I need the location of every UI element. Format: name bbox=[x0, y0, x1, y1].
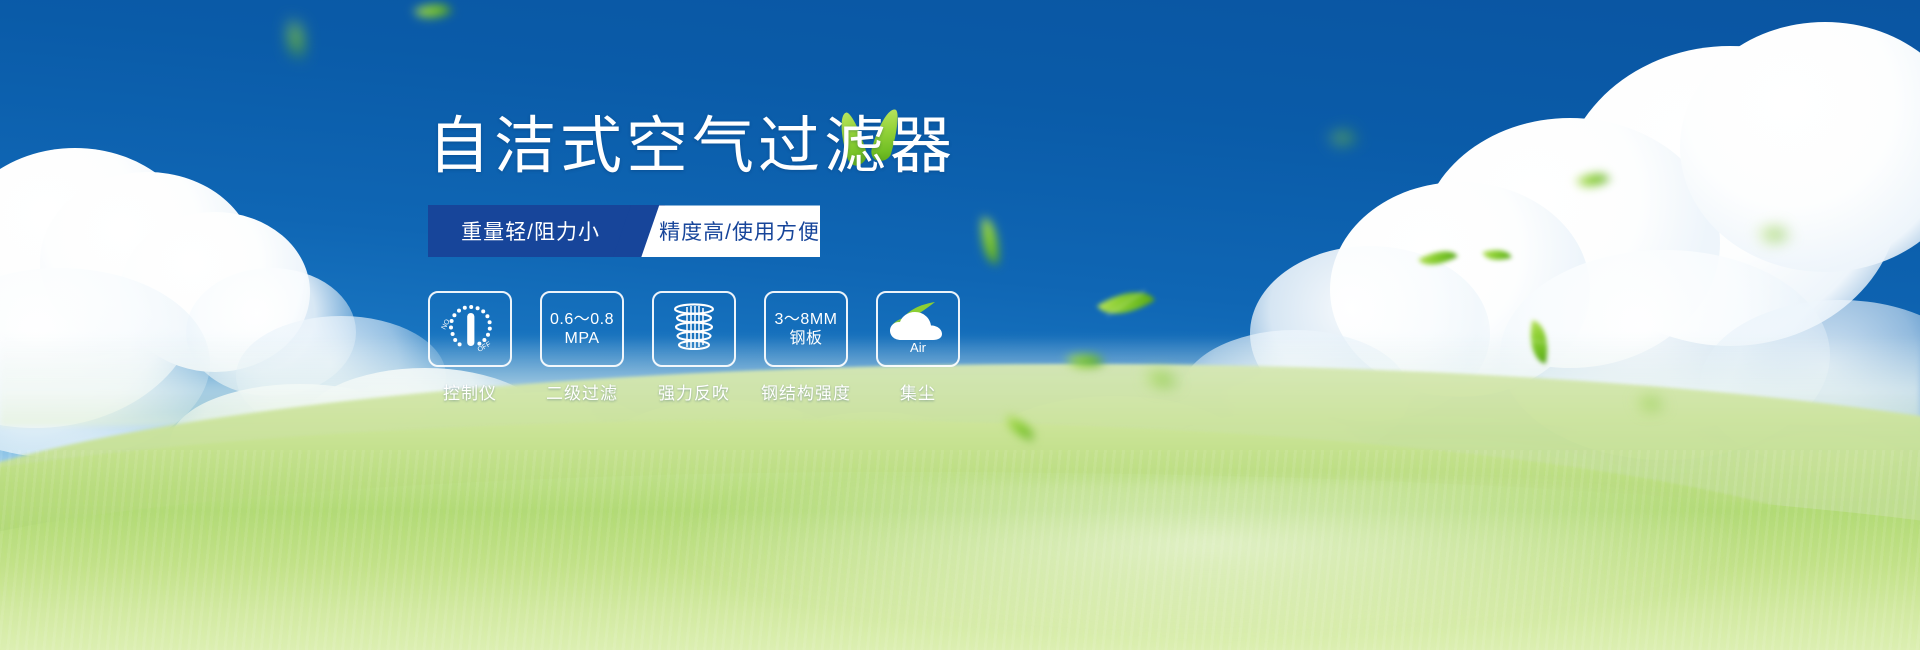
feature-label-steel: 钢结构强度 bbox=[761, 379, 851, 404]
floating-leaf bbox=[1576, 166, 1610, 195]
feature-label-control: 控制仪 bbox=[443, 379, 497, 404]
product-banner: 自洁式空气过滤器 重量轻/阻力小 精度高/使用方便 bbox=[0, 0, 1920, 650]
cloud-shape bbox=[890, 312, 942, 340]
steel-value-line2: 钢板 bbox=[789, 329, 822, 349]
banner-content: 自洁式空气过滤器 重量轻/阻力小 精度高/使用方便 bbox=[428, 112, 1148, 404]
grass-highlight bbox=[653, 480, 1767, 640]
tagline-tab-primary[interactable]: 重量轻/阻力小 bbox=[428, 205, 639, 257]
feature-item-control[interactable]: NO OFF 控制仪 bbox=[428, 291, 512, 404]
tagline-tab-primary-label: 重量轻/阻力小 bbox=[461, 216, 600, 246]
floating-leaf bbox=[1331, 128, 1356, 148]
pressure-value-line1: 0.6～0.8 bbox=[550, 310, 614, 330]
cloud-puff bbox=[1680, 22, 1920, 272]
filter-cartridge-icon bbox=[665, 300, 723, 358]
cloud-puff bbox=[40, 172, 255, 352]
cloud-puff bbox=[0, 148, 200, 358]
floating-leaf bbox=[1760, 224, 1787, 245]
feature-box-pressure: 0.6～0.8 MPA bbox=[540, 291, 624, 367]
feature-item-steel[interactable]: 3～8MM 钢板 钢结构强度 bbox=[764, 291, 848, 404]
air-cloud-icon: Air bbox=[885, 300, 951, 358]
feature-box-blowback bbox=[652, 291, 736, 367]
feature-item-blowback[interactable]: 强力反吹 bbox=[652, 291, 736, 404]
pressure-value-line2: MPA bbox=[565, 329, 600, 349]
feature-label-pressure: 二级过滤 bbox=[546, 379, 618, 404]
cloud-puff bbox=[1420, 118, 1720, 368]
feature-item-dust[interactable]: Air 集尘 bbox=[876, 291, 960, 404]
feature-item-pressure[interactable]: 0.6～0.8 MPA 二级过滤 bbox=[540, 291, 624, 404]
tagline-tab-secondary-label: 精度高/使用方便 bbox=[659, 216, 820, 246]
feature-box-dust: Air bbox=[876, 291, 960, 367]
air-caption: Air bbox=[910, 340, 927, 355]
floating-leaf bbox=[1482, 244, 1511, 265]
feature-box-control: NO OFF bbox=[428, 291, 512, 367]
tagline-tabs: 重量轻/阻力小 精度高/使用方便 bbox=[428, 205, 820, 257]
feature-box-steel: 3～8MM 钢板 bbox=[764, 291, 848, 367]
feature-label-dust: 集尘 bbox=[900, 379, 936, 404]
steel-value-line1: 3～8MM bbox=[775, 310, 838, 330]
cloud-puff bbox=[1560, 46, 1900, 346]
feature-list: NO OFF 控制仪 0.6～0.8 MPA 二级过滤 bbox=[428, 291, 1148, 404]
floating-leaf bbox=[285, 21, 307, 57]
page-title: 自洁式空气过滤器 bbox=[428, 112, 1148, 181]
floating-leaf bbox=[414, 0, 452, 27]
floating-leaf bbox=[1418, 242, 1457, 273]
gauge-dial-icon: NO OFF bbox=[439, 300, 501, 358]
tagline-tab-secondary[interactable]: 精度高/使用方便 bbox=[639, 205, 820, 257]
feature-label-blowback: 强力反吹 bbox=[658, 379, 730, 404]
